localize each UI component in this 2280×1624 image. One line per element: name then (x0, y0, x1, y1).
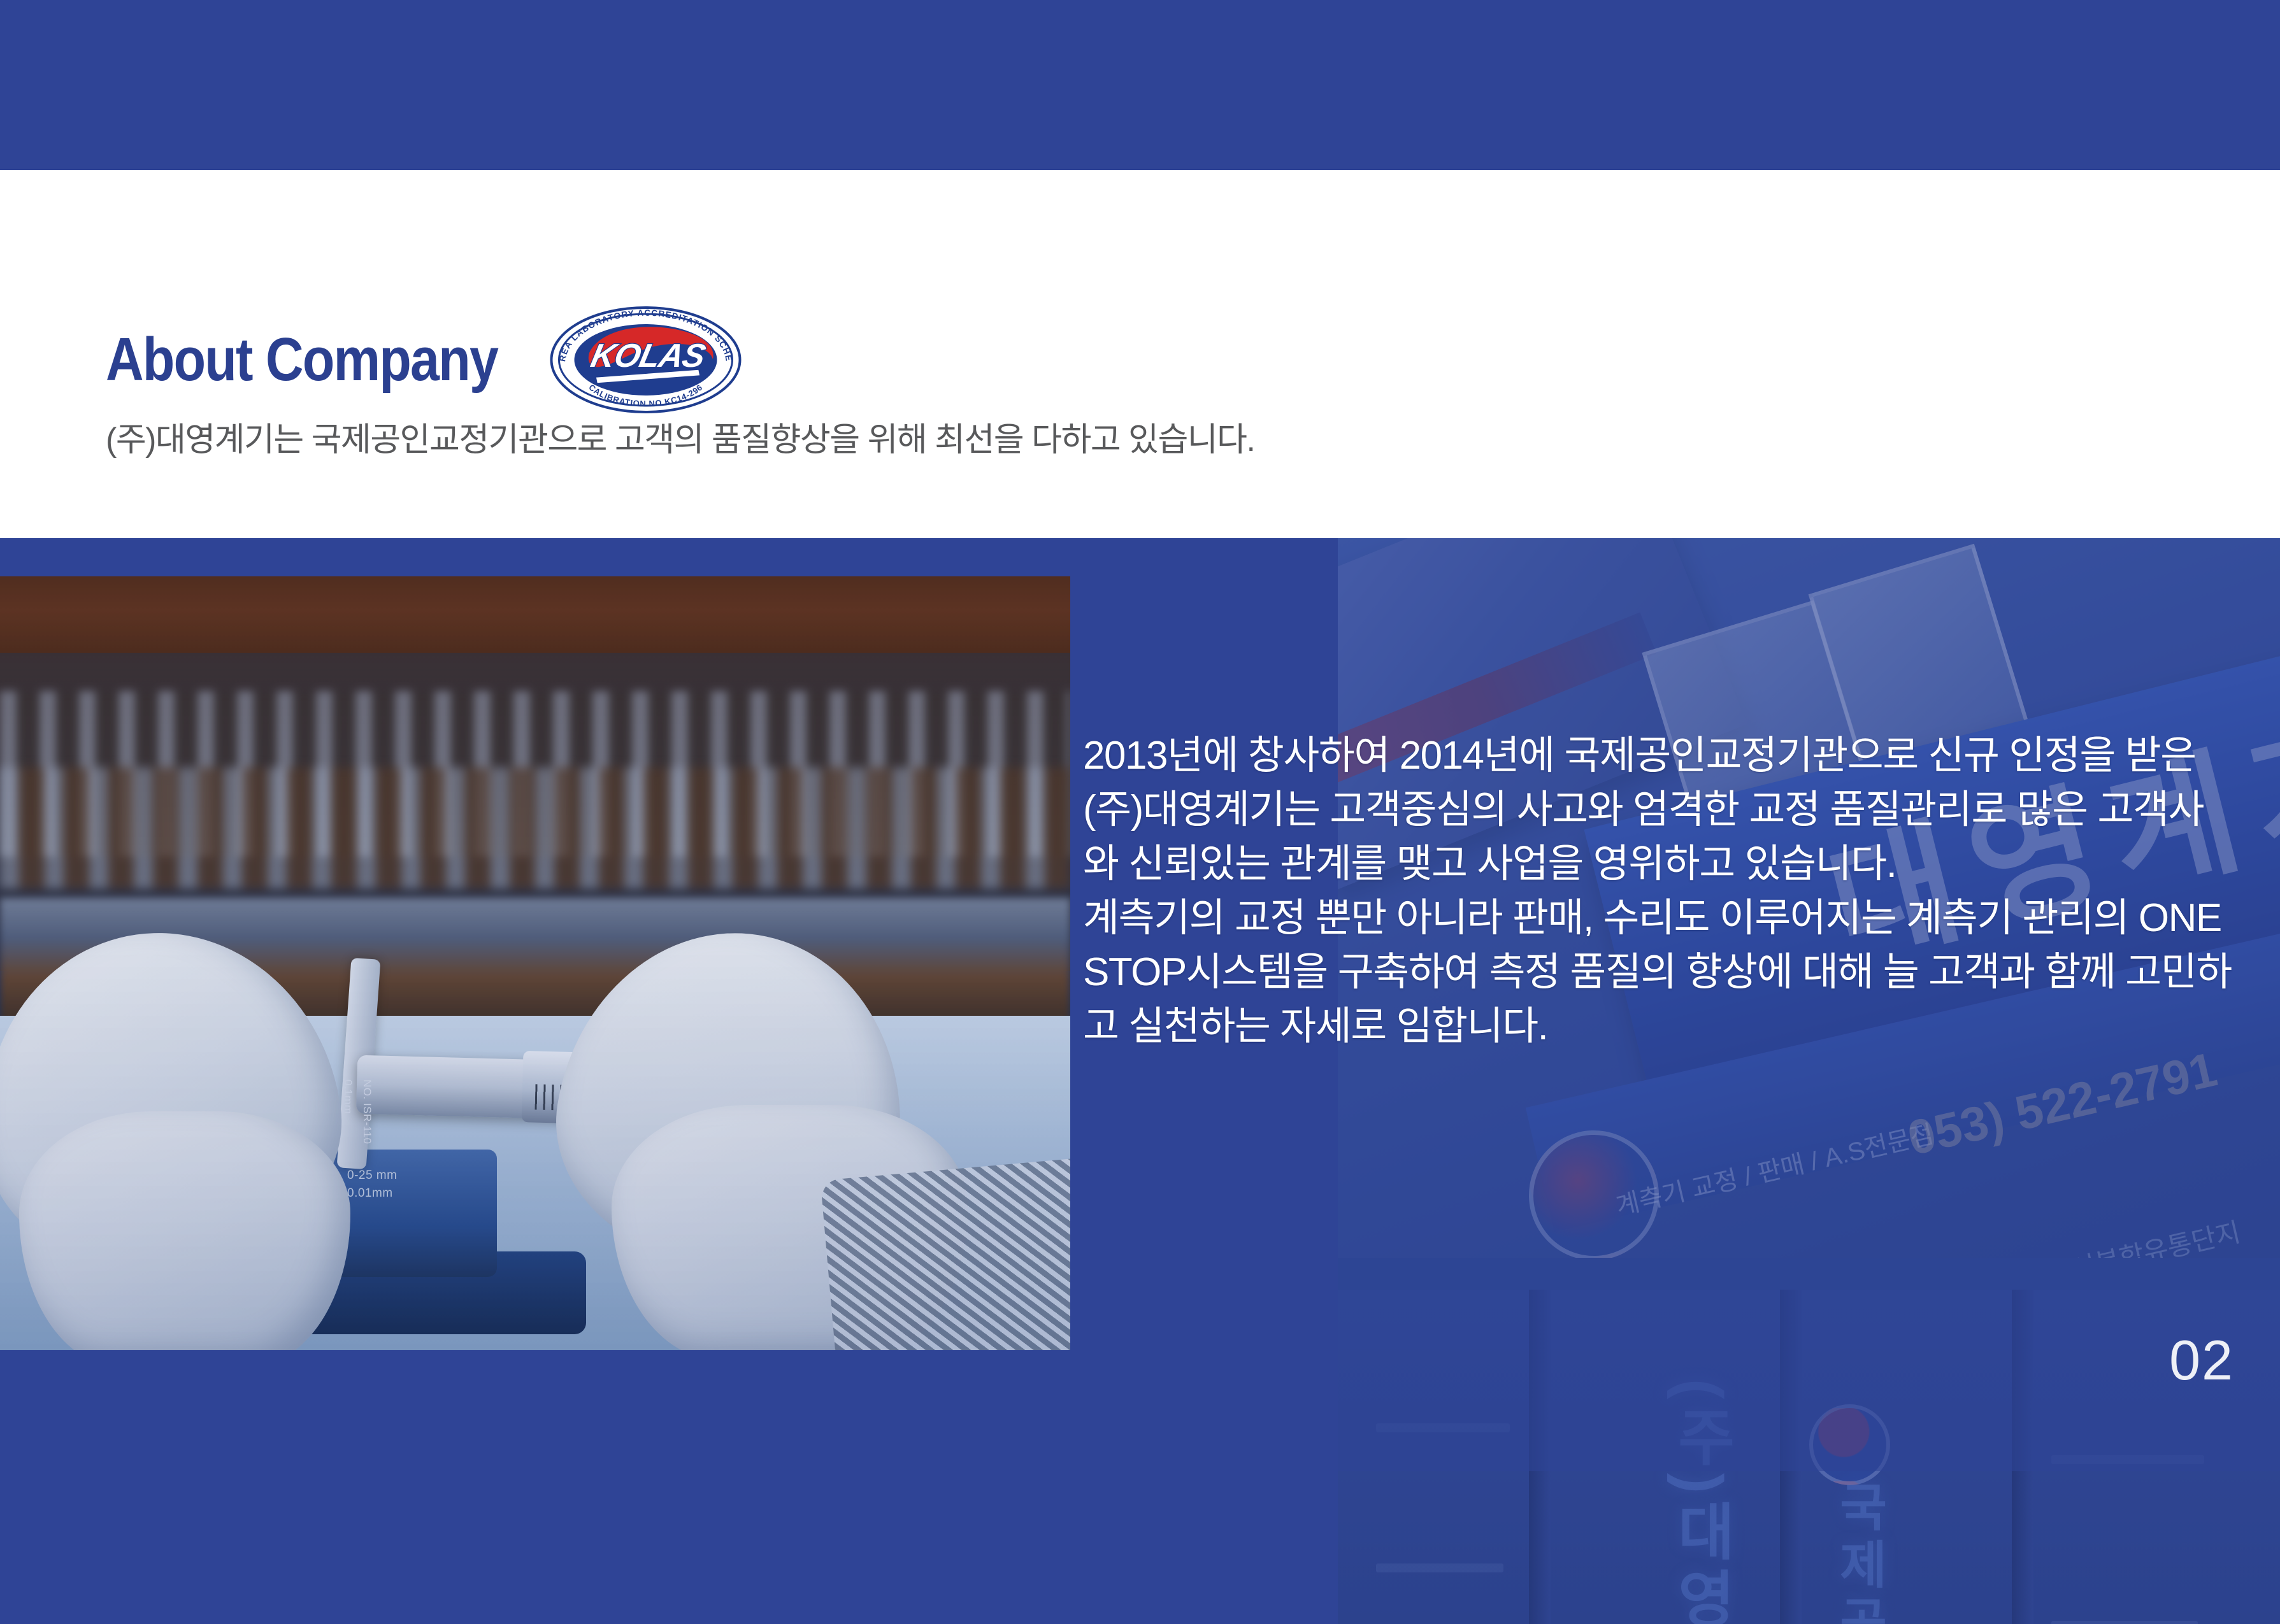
page-number: 02 (2169, 1328, 2234, 1393)
page-title: About Company (106, 329, 498, 390)
kolas-logo-icon: KOLAS KOREA LABORATORY ACCREDITATION SCH… (548, 306, 743, 414)
title-row: About Company KOLAS (106, 306, 743, 414)
header-subtitle: (주)대영계기는 국제공인교정기관으로 고객의 품질향상을 위해 최선을 다하고… (106, 413, 1254, 460)
content-stage: 0.1mm NO. ISR-110 0-25 mm 0.01mm 대영계기 계측… (0, 538, 2280, 1624)
photo-blue-tint (0, 576, 1070, 1350)
top-blue-band (0, 0, 2280, 170)
about-company-copy: 2013년에 창사하여 2014년에 국제공인교정기관으로 신규 인정을 받은 … (1083, 729, 2236, 1054)
calibration-photo: 0.1mm NO. ISR-110 0-25 mm 0.01mm (0, 576, 1070, 1350)
storefront-photo-lower: (주)대영계기 국제공인교정기관 (1338, 1290, 2280, 1624)
header-zone: About Company KOLAS (0, 170, 2280, 538)
about-paragraph-1: 2013년에 창사하여 2014년에 국제공인교정기관으로 신규 인정을 받은 … (1083, 729, 2236, 892)
storefront-lower-tint (1338, 1290, 2280, 1624)
slide-root: About Company KOLAS (0, 0, 2280, 1624)
svg-text:KOLAS: KOLAS (588, 338, 709, 374)
about-paragraph-2: 계측기의 교정 뿐만 아니라 판매, 수리도 이루어지는 계측기 관리의 ONE… (1083, 892, 2236, 1054)
